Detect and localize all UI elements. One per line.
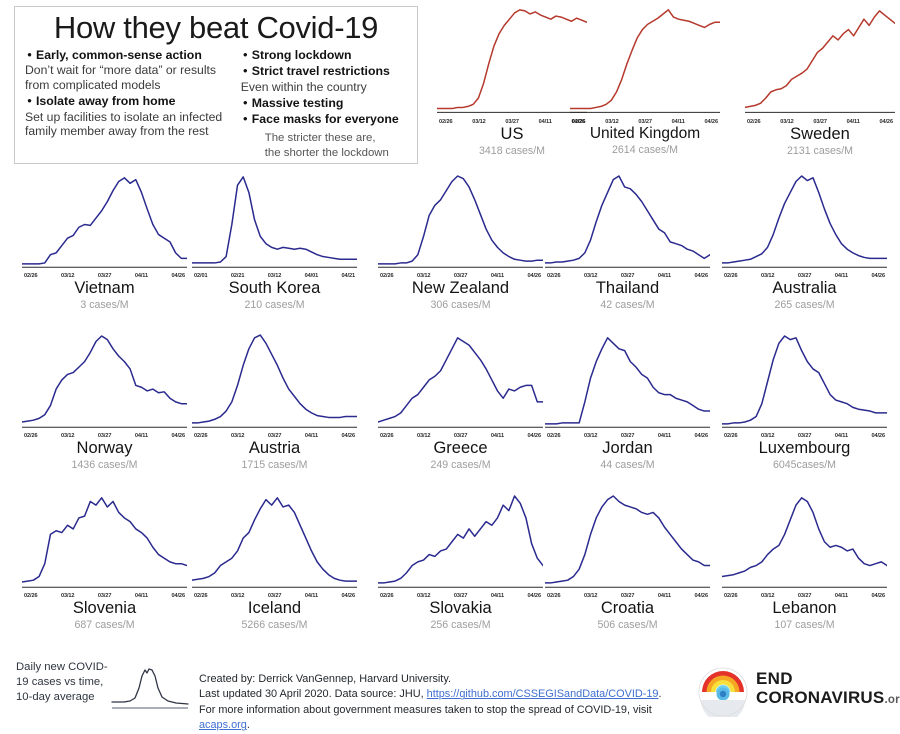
page-title: How they beat Covid-19 — [15, 11, 417, 45]
x-axis-tick-label: 04/26 — [694, 593, 708, 599]
chart-panel-norway: 02/2603/1203/2704/1104/26Norway1436 case… — [22, 330, 187, 472]
sparkline-plot — [570, 2, 720, 120]
x-axis-tick-label: 02/26 — [194, 433, 208, 439]
bullet-item: • Face masks for everyone — [239, 112, 409, 127]
bullet-label: Massive testing — [252, 96, 344, 111]
x-axis-tick-label: 03/27 — [798, 273, 812, 279]
bullet-item: • Strict travel restrictions — [239, 64, 409, 79]
x-axis-tick-label: 03/27 — [454, 273, 468, 279]
country-name: Iceland — [192, 600, 357, 618]
x-axis-tick-label: 04/11 — [672, 119, 685, 125]
x-axis-ticks: 02/2603/1203/2704/1104/26 — [722, 593, 887, 599]
x-axis-ticks: 02/2603/1203/2704/1104/26 — [22, 593, 187, 599]
x-axis-tick-label: 02/26 — [24, 273, 38, 279]
chart-panel-jordan: 02/2603/1203/2704/1104/26Jordan44 cases/… — [545, 330, 710, 472]
x-axis-tick-label: 03/27 — [621, 593, 635, 599]
country-name: Slovakia — [378, 600, 543, 618]
x-axis-tick-label: 03/12 — [61, 433, 75, 439]
x-axis-tick-label: 02/26 — [24, 593, 38, 599]
sparkline-plot — [545, 490, 710, 594]
cases-per-million-label: 3 cases/M — [22, 299, 187, 312]
chart-legend: Daily new COVID-19 cases vs time, 10-day… — [16, 660, 196, 718]
cases-per-million-label: 306 cases/M — [378, 299, 543, 312]
country-name: Norway — [22, 440, 187, 458]
chart-panel-new-zealand: 02/2603/1203/2704/1104/26New Zealand306 … — [378, 170, 543, 312]
x-axis-tick-label: 02/26 — [380, 273, 394, 279]
chart-panel-greece: 02/2603/1203/2704/1104/26Greece249 cases… — [378, 330, 543, 472]
x-axis-ticks: 02/2603/1203/2704/1104/26 — [545, 273, 710, 279]
cases-per-million-label: 1436 cases/M — [22, 459, 187, 472]
chart-panel-united-kingdom: 02/2603/1203/2704/1104/26United Kingdom2… — [570, 2, 720, 156]
sparkline-plot — [378, 170, 543, 274]
sparkline-plot — [437, 2, 587, 120]
cases-per-million-label: 265 cases/M — [722, 299, 887, 312]
bullet-item: • Early, common-sense action — [23, 48, 239, 63]
bullet-subtext: Set up facilities to isolate an infected… — [25, 110, 239, 140]
x-axis-tick-label: 04/26 — [871, 433, 885, 439]
country-name: Lebanon — [722, 600, 887, 618]
credits-info-suffix: . — [247, 719, 250, 731]
country-name: Austria — [192, 440, 357, 458]
chart-panel-south-korea: 02/0102/2103/1204/0104/21South Korea210 … — [192, 170, 357, 312]
x-axis-tick-label: 03/27 — [638, 119, 652, 125]
bullet-dot-icon: • — [23, 48, 36, 63]
sparkline-plot — [378, 490, 543, 594]
brand-block: END CORONAVIRUS.org — [698, 665, 894, 719]
country-name: Sweden — [745, 126, 895, 144]
info-box-note-line2: the shorter the lockdown — [265, 146, 409, 160]
cases-per-million-label: 5266 cases/M — [192, 619, 357, 632]
x-axis-tick-label: 03/12 — [417, 273, 431, 279]
sparkline-plot — [192, 490, 357, 594]
x-axis-tick-label: 02/26 — [194, 593, 208, 599]
x-axis-tick-label: 03/12 — [417, 593, 431, 599]
bullet-dot-icon: • — [239, 112, 252, 127]
x-axis-tick-label: 03/12 — [761, 593, 775, 599]
x-axis-ticks: 02/2603/1203/2704/1104/26 — [22, 433, 187, 439]
sparkline-plot — [722, 170, 887, 274]
bullet-dot-icon: • — [239, 48, 252, 63]
x-axis-ticks: 02/2603/1203/2704/1104/26 — [22, 273, 187, 279]
chart-panel-slovakia: 02/2603/1203/2704/1104/26Slovakia256 cas… — [378, 490, 543, 632]
bullet-label: Strict travel restrictions — [252, 64, 390, 79]
bullet-item: • Isolate away from home — [23, 94, 239, 109]
info-box-right-column: • Strong lockdown • Strict travel restri… — [239, 47, 409, 160]
x-axis-tick-label: 02/26 — [724, 593, 738, 599]
country-name: South Korea — [192, 280, 357, 298]
x-axis-tick-label: 02/26 — [24, 433, 38, 439]
chart-panel-iceland: 02/2603/1203/2704/1104/26Iceland5266 cas… — [192, 490, 357, 632]
x-axis-tick-label: 02/26 — [547, 593, 561, 599]
x-axis-tick-label: 04/26 — [704, 119, 718, 125]
x-axis-tick-label: 04/11 — [847, 119, 860, 125]
x-axis-tick-label: 03/12 — [268, 273, 282, 279]
bullet-item: • Strong lockdown — [239, 48, 409, 63]
x-axis-tick-label: 02/26 — [380, 593, 394, 599]
cases-per-million-label: 6045cases/M — [722, 459, 887, 472]
x-axis-tick-label: 04/26 — [527, 433, 541, 439]
x-axis-tick-label: 03/27 — [798, 593, 812, 599]
country-name: Greece — [378, 440, 543, 458]
sparkline-plot — [545, 170, 710, 274]
x-axis-tick-label: 04/26 — [871, 593, 885, 599]
x-axis-ticks: 02/2603/1203/2704/1104/26 — [192, 593, 357, 599]
info-box: How they beat Covid-19 • Early, common-s… — [14, 6, 418, 164]
sparkline-plot — [378, 330, 543, 434]
x-axis-ticks: 02/2603/1203/2704/1104/26 — [722, 273, 887, 279]
x-axis-tick-label: 04/11 — [135, 593, 148, 599]
x-axis-tick-label: 03/12 — [61, 273, 75, 279]
x-axis-tick-label: 02/26 — [547, 433, 561, 439]
x-axis-tick-label: 03/27 — [798, 433, 812, 439]
x-axis-tick-label: 03/27 — [98, 433, 112, 439]
sparkline-plot — [192, 330, 357, 434]
legend-caption: Daily new COVID-19 cases vs time, 10-day… — [16, 660, 108, 705]
x-axis-tick-label: 03/12 — [472, 119, 486, 125]
bullet-label: Strong lockdown — [252, 48, 352, 63]
x-axis-tick-label: 04/11 — [305, 433, 318, 439]
x-axis-tick-label: 04/11 — [491, 593, 504, 599]
cases-per-million-label: 210 cases/M — [192, 299, 357, 312]
x-axis-tick-label: 04/11 — [835, 593, 848, 599]
infographic-root: How they beat Covid-19 • Early, common-s… — [0, 0, 900, 725]
country-name: US — [437, 126, 587, 144]
info-box-note-line1: The stricter these are, — [265, 131, 409, 145]
x-axis-tick-label: 02/21 — [231, 273, 245, 279]
credits-source-suffix: . — [658, 688, 661, 700]
x-axis-tick-label: 02/26 — [380, 433, 394, 439]
x-axis-ticks: 02/2603/1203/2704/1104/26 — [378, 273, 543, 279]
country-name: Thailand — [545, 280, 710, 298]
x-axis-tick-label: 04/26 — [171, 593, 185, 599]
x-axis-tick-label: 04/11 — [658, 273, 671, 279]
brand-org-suffix: .org — [884, 694, 900, 706]
x-axis-tick-label: 03/12 — [61, 593, 75, 599]
info-box-columns: • Early, common-sense action Don’t wait … — [15, 47, 417, 160]
cases-per-million-label: 42 cases/M — [545, 299, 710, 312]
acaps-link[interactable]: acaps.org — [199, 719, 247, 731]
brand-line-end: END — [756, 670, 900, 687]
bullet-label: Early, common-sense action — [36, 48, 202, 63]
credits-info-prefix: For more information about government me… — [199, 704, 652, 716]
x-axis-tick-label: 02/01 — [194, 273, 208, 279]
x-axis-tick-label: 04/11 — [835, 433, 848, 439]
cases-per-million-label: 249 cases/M — [378, 459, 543, 472]
chart-panel-slovenia: 02/2603/1203/2704/1104/26Slovenia687 cas… — [22, 490, 187, 632]
sparkline-plot — [722, 490, 887, 594]
x-axis-tick-label: 02/26 — [572, 119, 586, 125]
country-name: Slovenia — [22, 600, 187, 618]
x-axis-tick-label: 04/11 — [491, 273, 504, 279]
chart-panel-australia: 02/2603/1203/2704/1104/26Australia265 ca… — [722, 170, 887, 312]
x-axis-tick-label: 03/27 — [505, 119, 519, 125]
country-name: Australia — [722, 280, 887, 298]
country-name: Luxembourg — [722, 440, 887, 458]
x-axis-tick-label: 03/27 — [454, 433, 468, 439]
x-axis-tick-label: 04/26 — [879, 119, 893, 125]
x-axis-tick-label: 03/12 — [417, 433, 431, 439]
sparkline-plot — [192, 170, 357, 274]
x-axis-tick-label: 03/12 — [761, 273, 775, 279]
x-axis-tick-label: 04/11 — [658, 593, 671, 599]
x-axis-tick-label: 04/26 — [171, 433, 185, 439]
x-axis-tick-label: 03/27 — [813, 119, 827, 125]
chart-panel-us: 02/2603/1203/2704/1104/26US3418 cases/M — [437, 2, 587, 158]
bullet-label: Face masks for everyone — [252, 112, 399, 127]
x-axis-ticks: 02/2603/1203/2704/1104/26 — [192, 433, 357, 439]
x-axis-tick-label: 02/26 — [747, 119, 761, 125]
cases-per-million-label: 107 cases/M — [722, 619, 887, 632]
bullet-item: • Massive testing — [239, 96, 409, 111]
x-axis-tick-label: 04/11 — [539, 119, 552, 125]
country-name: Vietnam — [22, 280, 187, 298]
bullet-subtext: Don’t wait for “more data” or results fr… — [25, 63, 239, 93]
x-axis-tick-label: 03/27 — [98, 593, 112, 599]
x-axis-tick-label: 03/27 — [621, 433, 635, 439]
cases-per-million-label: 256 cases/M — [378, 619, 543, 632]
x-axis-tick-label: 04/11 — [658, 433, 671, 439]
bullet-subtext: Even within the country — [241, 80, 409, 95]
credits-line-source: Last updated 30 April 2020. Data source:… — [199, 687, 699, 702]
x-axis-ticks: 02/2603/1203/2704/1104/26 — [570, 119, 720, 125]
x-axis-tick-label: 03/12 — [761, 433, 775, 439]
chart-panel-vietnam: 02/2603/1203/2704/1104/26Vietnam3 cases/… — [22, 170, 187, 312]
x-axis-tick-label: 03/27 — [98, 273, 112, 279]
cases-per-million-label: 687 cases/M — [22, 619, 187, 632]
x-axis-tick-label: 03/27 — [268, 593, 282, 599]
chart-panel-austria: 02/2603/1203/2704/1104/26Austria1715 cas… — [192, 330, 357, 472]
info-box-left-column: • Early, common-sense action Don’t wait … — [23, 47, 239, 160]
x-axis-tick-label: 04/26 — [694, 273, 708, 279]
brand-wordmark: END CORONAVIRUS.org — [756, 670, 900, 707]
x-axis-tick-label: 02/26 — [439, 119, 453, 125]
x-axis-tick-label: 04/26 — [871, 273, 885, 279]
x-axis-ticks: 02/2603/1203/2704/1104/26 — [722, 433, 887, 439]
country-name: Croatia — [545, 600, 710, 618]
chart-panel-lebanon: 02/2603/1203/2704/1104/26Lebanon107 case… — [722, 490, 887, 632]
x-axis-tick-label: 04/21 — [342, 273, 356, 279]
x-axis-tick-label: 02/26 — [724, 273, 738, 279]
x-axis-tick-label: 04/26 — [171, 273, 185, 279]
x-axis-tick-label: 03/12 — [780, 119, 794, 125]
cases-per-million-label: 506 cases/M — [545, 619, 710, 632]
x-axis-tick-label: 04/26 — [527, 273, 541, 279]
sparkline-plot — [22, 330, 187, 434]
x-axis-ticks: 02/2603/1203/2704/1104/26 — [545, 593, 710, 599]
end-coronavirus-logo-icon — [698, 667, 748, 717]
x-axis-tick-label: 04/11 — [135, 273, 148, 279]
x-axis-tick-label: 04/11 — [835, 273, 848, 279]
country-name: New Zealand — [378, 280, 543, 298]
x-axis-tick-label: 04/11 — [491, 433, 504, 439]
bullet-dot-icon: • — [239, 96, 252, 111]
cases-per-million-label: 2131 cases/M — [745, 145, 895, 158]
x-axis-tick-label: 03/27 — [621, 273, 635, 279]
x-axis-tick-label: 03/12 — [231, 433, 245, 439]
sparkline-plot — [22, 490, 187, 594]
chart-panel-luxembourg: 02/2603/1203/2704/1104/26Luxembourg6045c… — [722, 330, 887, 472]
chart-panel-sweden: 02/2603/1203/2704/1104/26Sweden2131 case… — [745, 2, 895, 158]
x-axis-tick-label: 04/26 — [527, 593, 541, 599]
country-name: Jordan — [545, 440, 710, 458]
x-axis-tick-label: 04/01 — [305, 273, 319, 279]
sparkline-plot — [545, 330, 710, 434]
x-axis-ticks: 02/2603/1203/2704/1104/26 — [745, 119, 895, 125]
data-source-link[interactable]: https://github.com/CSSEGISandData/COVID-… — [427, 688, 659, 700]
x-axis-tick-label: 03/12 — [605, 119, 619, 125]
x-axis-tick-label: 04/11 — [135, 433, 148, 439]
bullet-dot-icon: • — [239, 64, 252, 79]
cases-per-million-label: 1715 cases/M — [192, 459, 357, 472]
x-axis-ticks: 02/2603/1203/2704/1104/26 — [378, 433, 543, 439]
x-axis-tick-label: 03/12 — [584, 433, 598, 439]
x-axis-ticks: 02/2603/1203/2704/1104/26 — [437, 119, 587, 125]
info-box-note: The stricter these are, the shorter the … — [265, 131, 409, 160]
bullet-dot-icon: • — [23, 94, 36, 109]
x-axis-tick-label: 04/26 — [341, 433, 355, 439]
bullet-label: Isolate away from home — [36, 94, 175, 109]
x-axis-ticks: 02/0102/2103/1204/0104/21 — [192, 273, 357, 279]
credits-line-info: For more information about government me… — [199, 703, 699, 734]
brand-coronavirus-text: CORONAVIRUS — [756, 688, 884, 707]
legend-sparkline — [110, 664, 192, 712]
credits-source-prefix: Last updated 30 April 2020. Data source:… — [199, 688, 427, 700]
x-axis-ticks: 02/2603/1203/2704/1104/26 — [545, 433, 710, 439]
country-name: United Kingdom — [570, 126, 720, 143]
brand-line-coronavirus: CORONAVIRUS.org — [756, 689, 900, 707]
cases-per-million-label: 3418 cases/M — [437, 145, 587, 158]
x-axis-tick-label: 04/26 — [694, 433, 708, 439]
chart-panel-thailand: 02/2603/1203/2704/1104/26Thailand42 case… — [545, 170, 710, 312]
x-axis-tick-label: 02/26 — [547, 273, 561, 279]
x-axis-tick-label: 03/27 — [454, 593, 468, 599]
sparkline-plot — [722, 330, 887, 434]
x-axis-tick-label: 04/26 — [341, 593, 355, 599]
chart-panel-croatia: 02/2603/1203/2704/1104/26Croatia506 case… — [545, 490, 710, 632]
x-axis-ticks: 02/2603/1203/2704/1104/26 — [378, 593, 543, 599]
x-axis-tick-label: 02/26 — [724, 433, 738, 439]
x-axis-tick-label: 03/12 — [584, 593, 598, 599]
sparkline-plot — [22, 170, 187, 274]
x-axis-tick-label: 03/12 — [584, 273, 598, 279]
cases-per-million-label: 2614 cases/M — [570, 144, 720, 157]
x-axis-tick-label: 03/12 — [231, 593, 245, 599]
credits-line-author: Created by: Derrick VanGennep, Harvard U… — [199, 672, 699, 687]
x-axis-tick-label: 04/11 — [305, 593, 318, 599]
sparkline-plot — [745, 2, 895, 120]
cases-per-million-label: 44 cases/M — [545, 459, 710, 472]
x-axis-tick-label: 03/27 — [268, 433, 282, 439]
